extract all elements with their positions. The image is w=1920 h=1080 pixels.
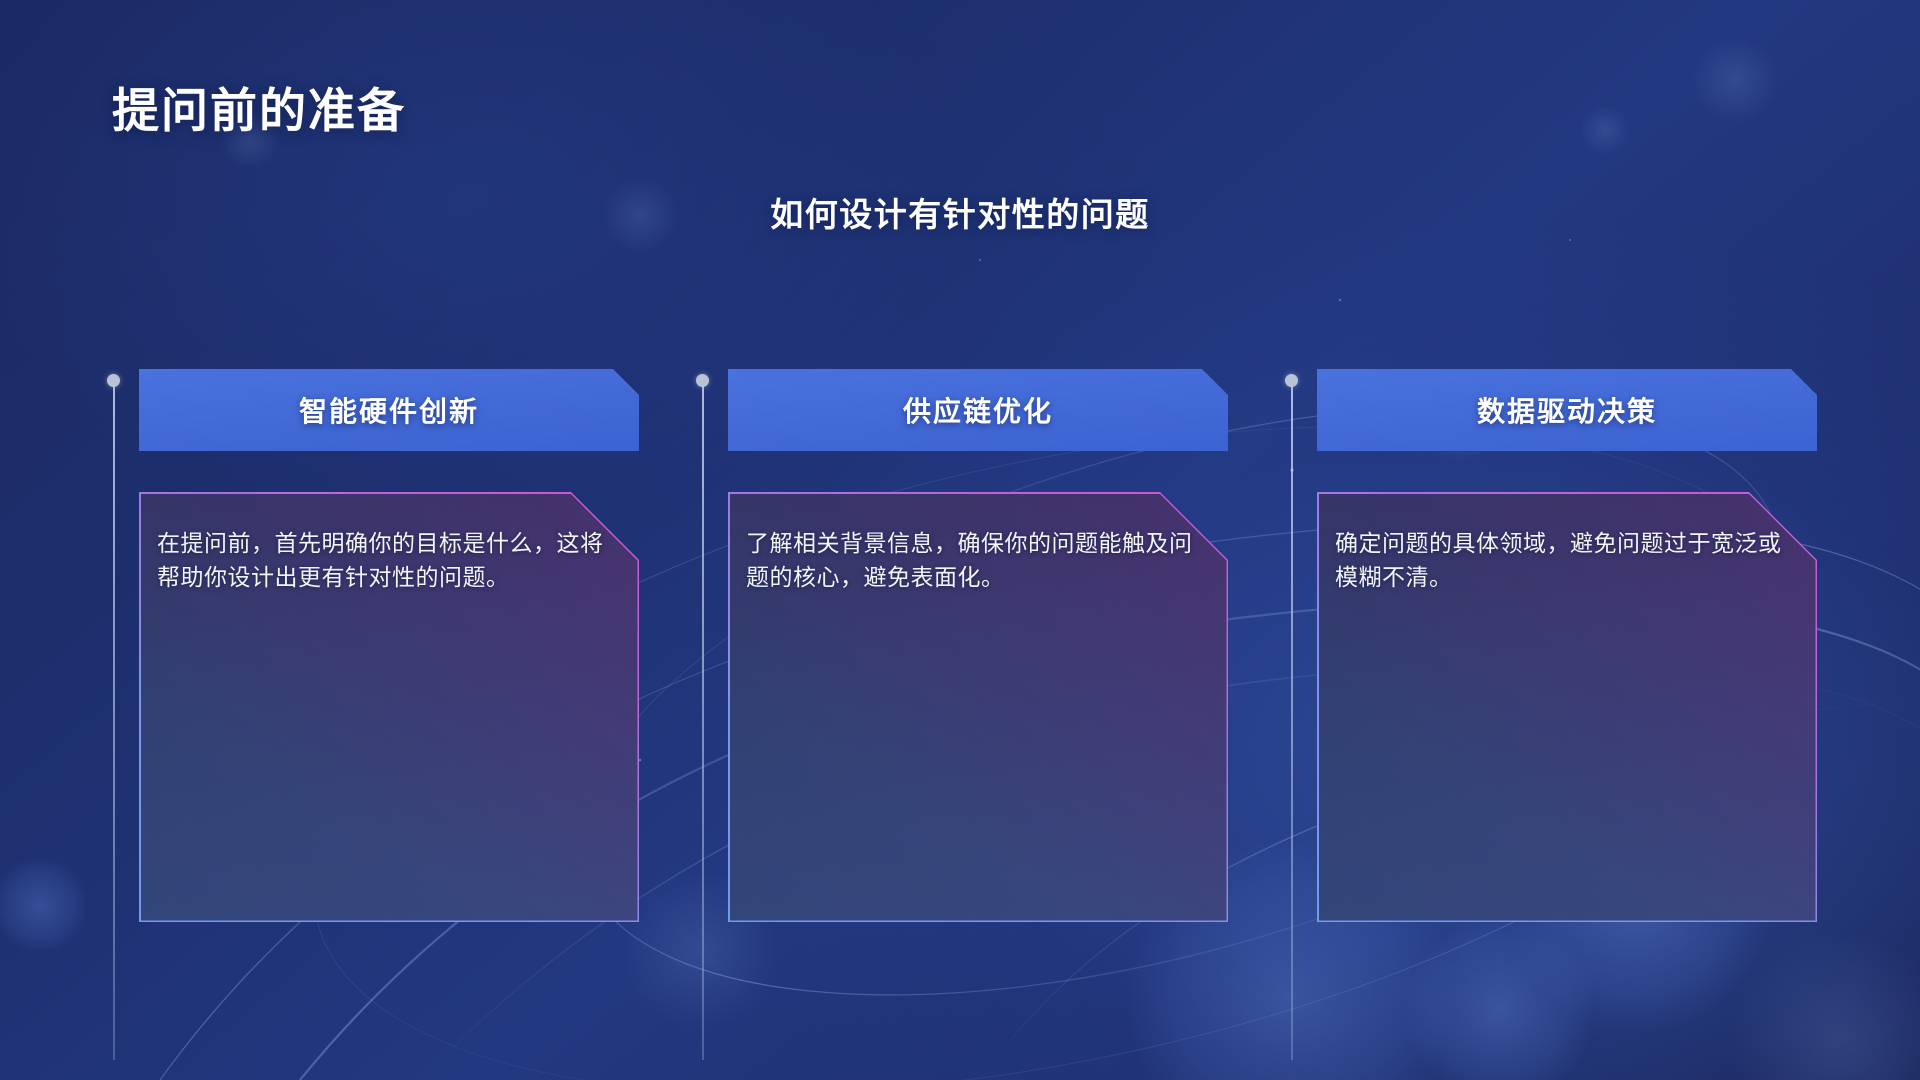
card-body-1: 在提问前，首先明确你的目标是什么，这将帮助你设计出更有针对性的问题。	[139, 492, 639, 922]
slide-canvas: 提问前的准备 如何设计有针对性的问题 智能硬件创新 在提问前，首先明确你的目标是…	[0, 0, 1920, 1080]
card-body-text-2: 了解相关背景信息，确保你的问题能触及问题的核心，避免表面化。	[746, 526, 1202, 594]
card-body-text-1: 在提问前，首先明确你的目标是什么，这将帮助你设计出更有针对性的问题。	[157, 526, 613, 594]
cards-container: 智能硬件创新 在提问前，首先明确你的目标是什么，这将帮助你设计出更有针对性的问题…	[0, 0, 1920, 1080]
card-header-label-2: 供应链优化	[903, 390, 1053, 430]
card-header-2[interactable]: 供应链优化	[728, 369, 1228, 451]
card-body-text-3: 确定问题的具体领域，避免问题过于宽泛或模糊不清。	[1335, 526, 1791, 594]
card-header-1[interactable]: 智能硬件创新	[139, 369, 639, 451]
card-header-label-1: 智能硬件创新	[299, 390, 479, 430]
timeline-line-1	[113, 386, 115, 1060]
timeline-line-3	[1291, 386, 1293, 1060]
card-body-3: 确定问题的具体领域，避免问题过于宽泛或模糊不清。	[1317, 492, 1817, 922]
card-header-label-3: 数据驱动决策	[1477, 390, 1657, 430]
card-header-3[interactable]: 数据驱动决策	[1317, 369, 1817, 451]
timeline-line-2	[702, 386, 704, 1060]
card-body-2: 了解相关背景信息，确保你的问题能触及问题的核心，避免表面化。	[728, 492, 1228, 922]
